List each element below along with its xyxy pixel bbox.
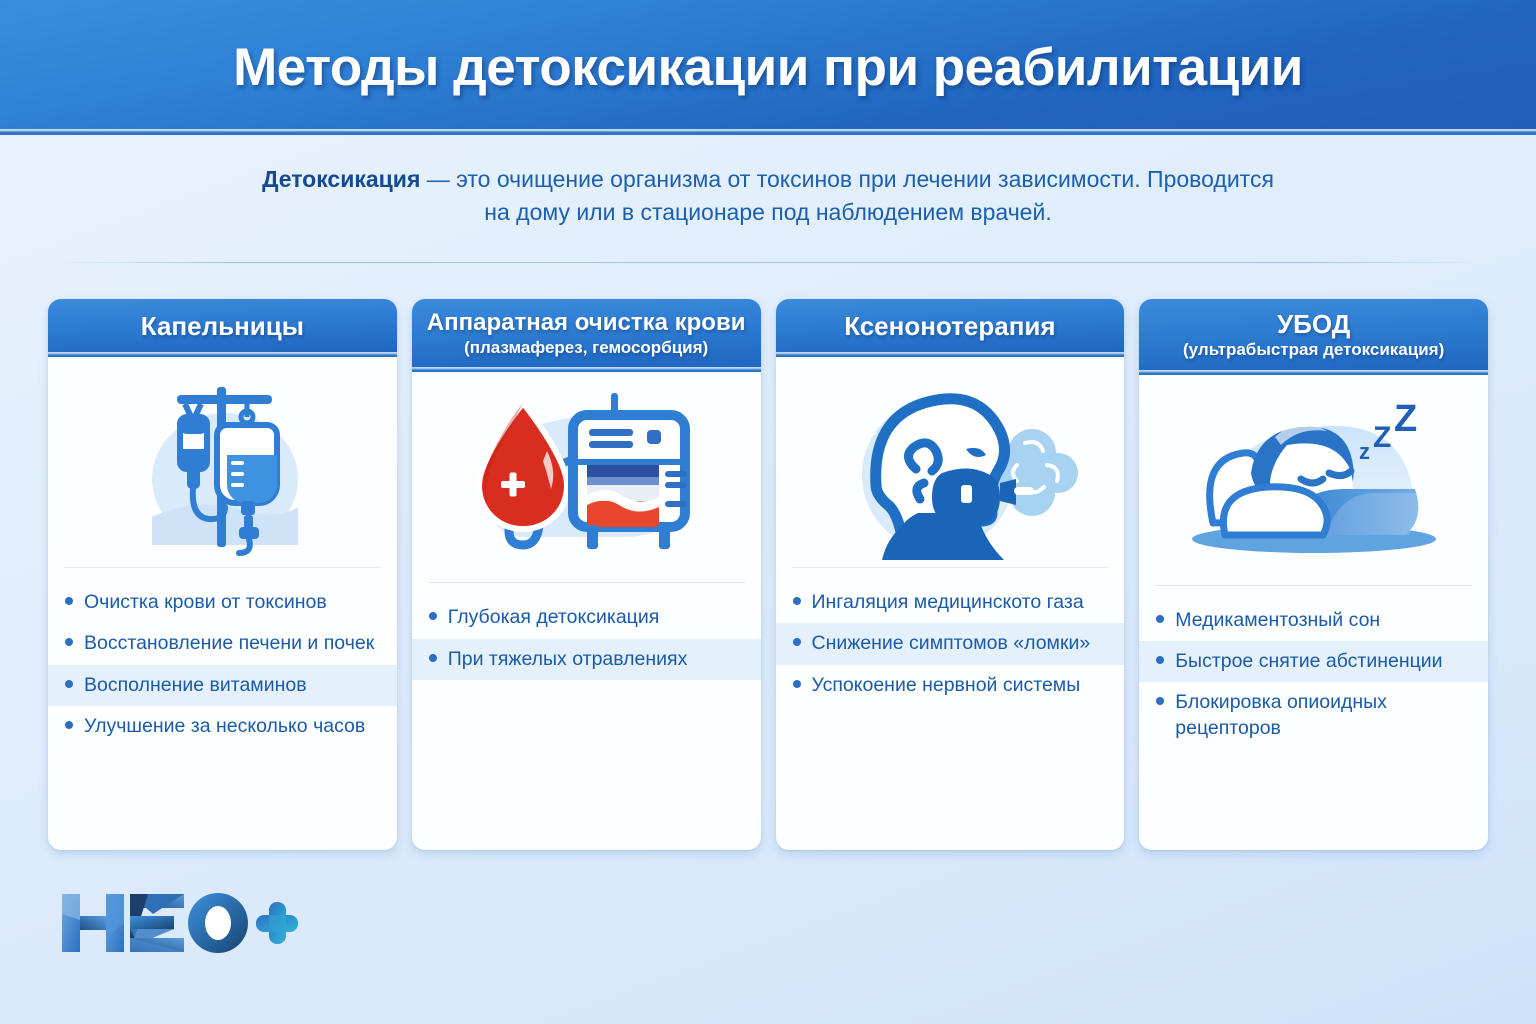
infographic-page: Методы детоксикации при реабилитации Дет… — [0, 0, 1536, 1024]
card-title: УБОД — [1149, 310, 1478, 339]
list-item: Восстановление печени и почек — [48, 623, 397, 664]
iv-drip-icon — [48, 357, 397, 567]
card-bullet-list: Ингаляция медицинското газа Снижение сим… — [776, 568, 1125, 850]
card-subtitle: (ультрабыстрая детоксикация) — [1149, 340, 1478, 360]
card-ubod[interactable]: УБОД (ультрабыстрая детоксикация) — [1139, 299, 1488, 850]
page-title: Методы детоксикации при реабилитации — [233, 37, 1303, 98]
card-kapelnitsy[interactable]: Капельницы — [48, 299, 397, 850]
card-title: Капельницы — [58, 312, 387, 341]
intro-divider — [58, 262, 1478, 263]
intro-line-1-rest: — это очищение организма от токсинов при… — [420, 166, 1274, 192]
xenon-mask-icon — [776, 357, 1125, 567]
list-item: Медикаментозный сон — [1139, 600, 1488, 641]
list-item: Улучшение за несколько часов — [48, 706, 397, 747]
list-item: При тяжелых отравлениях — [412, 639, 761, 680]
sleeping-patient-icon: z Z Z — [1139, 375, 1488, 585]
card-header: УБОД (ультрабыстрая детоксикация) — [1139, 299, 1488, 375]
list-item: Восполнение витаминов — [48, 665, 397, 706]
intro-line-2: на дому или в стационаре под наблюдением… — [484, 196, 1051, 229]
intro-line-1: Детоксикация — это очищение организма от… — [262, 163, 1274, 196]
card-title: Ксенонотерапия — [786, 312, 1115, 341]
card-apparatnaya-ochistka-krovi[interactable]: Аппаратная очистка крови (плазмаферез, г… — [412, 299, 761, 850]
card-header: Ксенонотерапия — [776, 299, 1125, 357]
intro-section: Детоксикация — это очищение организма от… — [0, 135, 1536, 265]
list-item: Блокировка опиоидных рецепторов — [1139, 682, 1488, 749]
neo-plus-logo — [58, 884, 298, 967]
card-bullet-list: Глубокая детоксикация При тяжелых отравл… — [412, 583, 761, 850]
card-subtitle: (плазмаферез, гемосорбция) — [422, 338, 751, 358]
svg-text:z: z — [1359, 439, 1370, 464]
card-bullet-list: Очистка крови от токсинов Восстановление… — [48, 568, 397, 850]
method-cards: Капельницы — [48, 299, 1488, 850]
svg-text:Z: Z — [1394, 398, 1417, 440]
card-title: Аппаратная очистка крови — [422, 310, 751, 337]
header-banner: Методы детоксикации при реабилитации — [0, 0, 1536, 135]
card-header: Капельницы — [48, 299, 397, 357]
card-header: Аппаратная очистка крови (плазмаферез, г… — [412, 299, 761, 372]
blood-purification-icon — [412, 372, 761, 582]
list-item: Снижение симптомов «ломки» — [776, 623, 1125, 664]
intro-keyword: Детоксикация — [262, 166, 420, 192]
card-ksenonoterapiya[interactable]: Ксенонотерапия — [776, 299, 1125, 850]
list-item: Быстрое снятие абстиненции — [1139, 641, 1488, 682]
list-item: Успокоение нервной системы — [776, 665, 1125, 706]
svg-text:Z: Z — [1373, 421, 1391, 454]
card-bullet-list: Медикаментозный сон Быстрое снятие абсти… — [1139, 586, 1488, 851]
list-item: Очистка крови от токсинов — [48, 582, 397, 623]
list-item: Ингаляция медицинското газа — [776, 582, 1125, 623]
list-item: Глубокая детоксикация — [412, 597, 761, 638]
